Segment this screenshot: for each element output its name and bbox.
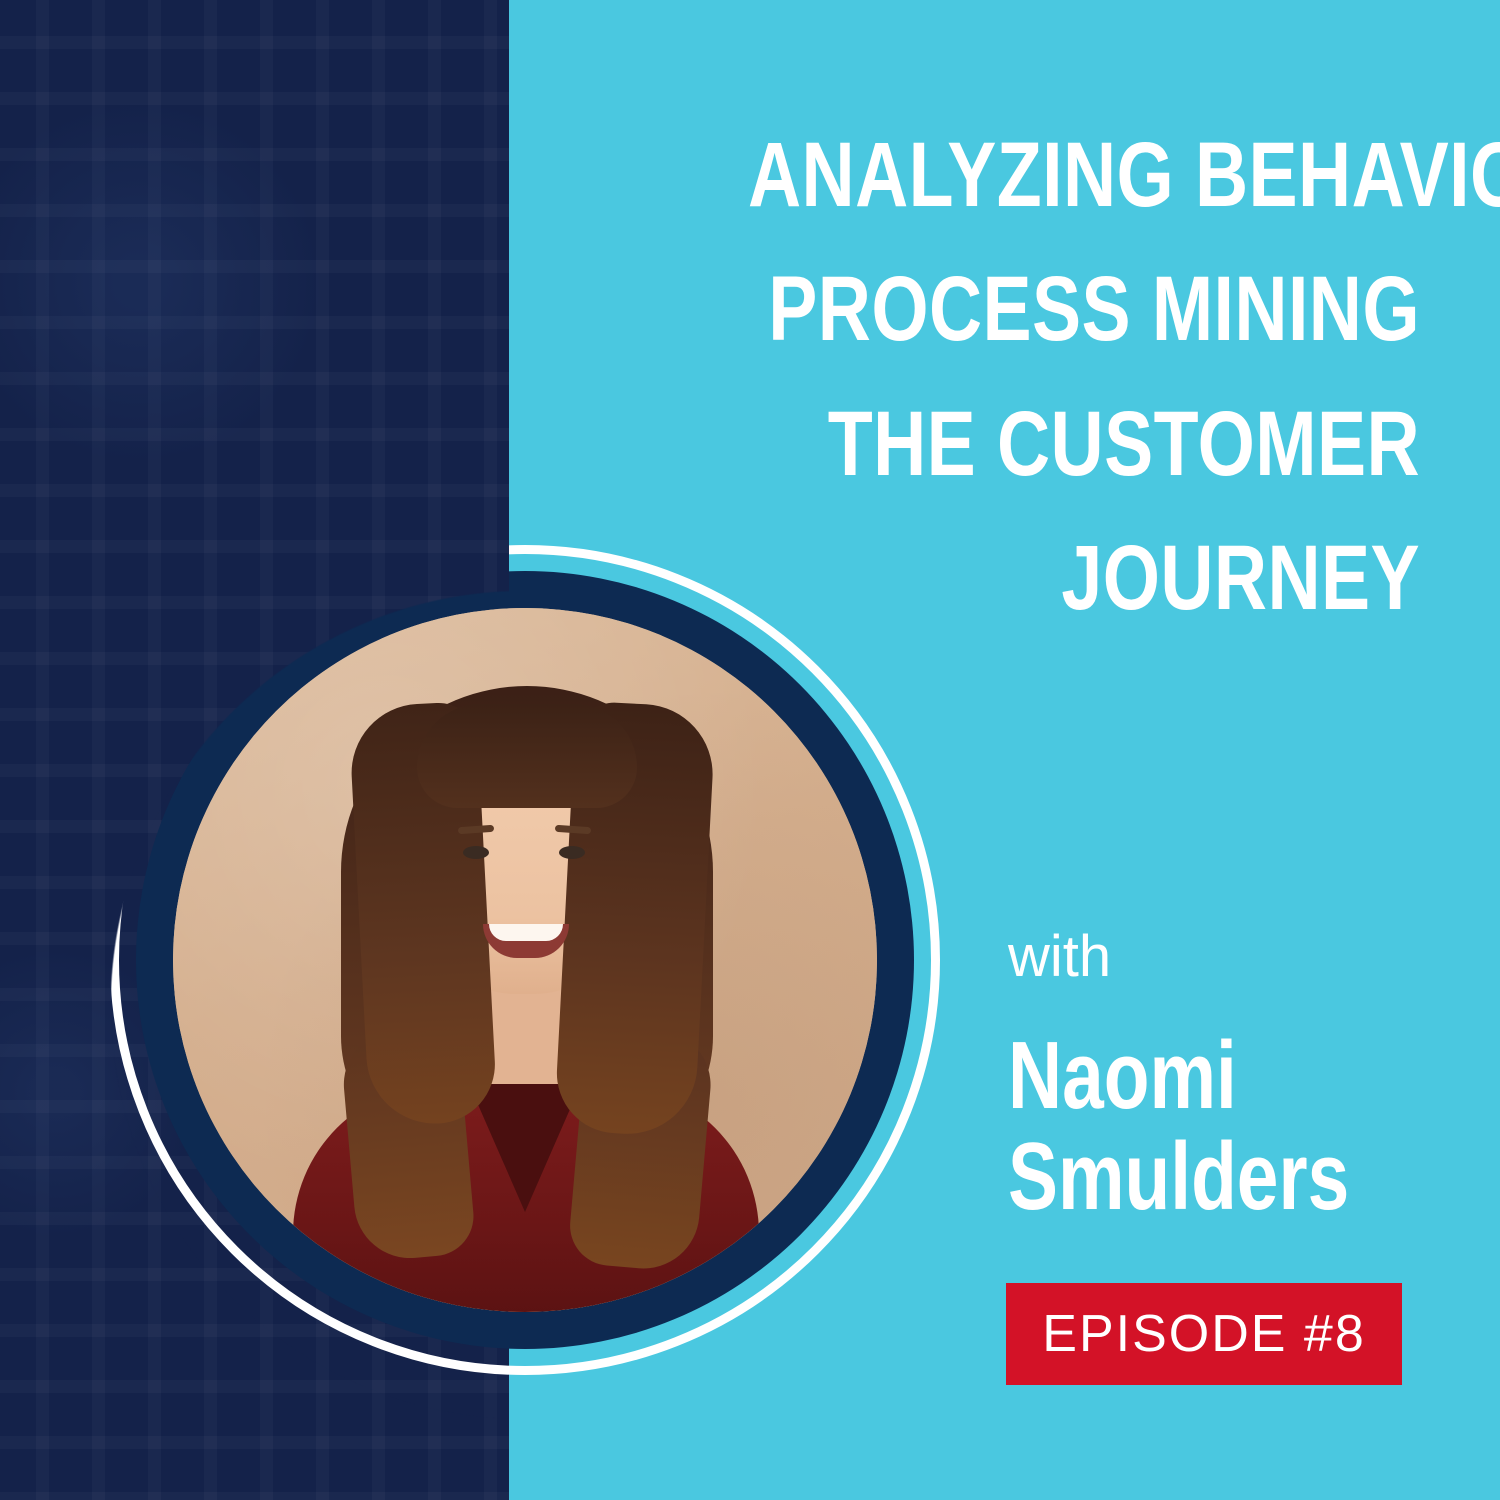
episode-title: ANALYZING BEHAVIOR: PROCESS MINING THE C…	[580, 108, 1420, 645]
guest-first-name: Naomi	[1008, 1026, 1349, 1127]
episode-title-line-1: ANALYZING BEHAVIOR:	[748, 108, 1420, 242]
episode-title-line-4: JOURNEY	[748, 511, 1420, 645]
episode-title-line-2: PROCESS MINING	[748, 242, 1420, 376]
podcast-episode-cover: WOMEN IN ANALYTICS AFTER HOURS	[0, 0, 1500, 1500]
episode-title-line-3: THE CUSTOMER	[748, 377, 1420, 511]
guest-last-name: Smulders	[1008, 1127, 1349, 1228]
portrait-eye-right	[559, 846, 585, 859]
episode-badge-label: EPISODE #8	[1042, 1308, 1365, 1360]
guest-name: Naomi Smulders	[1008, 1026, 1349, 1228]
guest-with-label: with	[1008, 928, 1111, 986]
navy-panel-clip-layer	[0, 0, 509, 1500]
dot-glow-pattern-overlay	[0, 0, 509, 1500]
episode-number-badge: EPISODE #8	[1006, 1283, 1402, 1385]
navy-panel-mask	[0, 0, 509, 1500]
